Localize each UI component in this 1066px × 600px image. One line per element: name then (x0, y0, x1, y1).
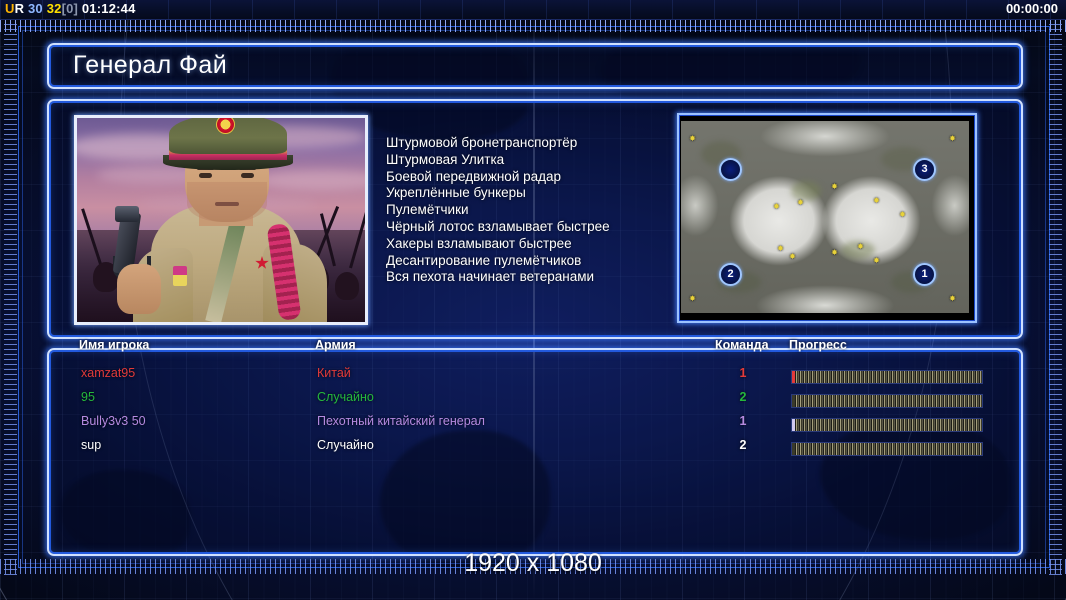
player-roster-panel: xamzat95Китай195Случайно2Bully3v3 50Пехо… (47, 348, 1023, 556)
player-team[interactable]: 2 (729, 438, 757, 452)
top-status-bar: UR 30 32[0] 01:12:44 00:00:00 (0, 0, 1066, 20)
portrait-mouth (215, 202, 239, 206)
column-header-progress: Прогресс (789, 338, 847, 352)
status-prefix-r: R (15, 1, 25, 16)
resolution-overlay: 1920 x 1080 (0, 549, 1066, 578)
pistol-slide (115, 206, 139, 222)
session-timer: 00:00:00 (1006, 1, 1058, 16)
minimap-resource-icon: ✸ (899, 211, 906, 218)
progress-fill (792, 395, 982, 407)
minimap-resource-icon: ✸ (873, 257, 880, 264)
minimap-resource-icon: ✸ (789, 253, 796, 260)
minimap-start-position[interactable]: 3 (913, 158, 936, 181)
ability-item: Десантирование пулемётчиков (386, 253, 706, 270)
progress-tip (792, 443, 795, 455)
portrait-hand (117, 264, 161, 314)
progress-fill (792, 371, 982, 383)
progress-fill (792, 419, 982, 431)
player-army[interactable]: Пехотный китайский генерал (317, 414, 485, 428)
player-progress-bar (791, 418, 983, 432)
column-header-army: Армия (315, 338, 356, 352)
portrait-cap-emblem (216, 115, 235, 134)
minimap-start-position[interactable]: 1 (913, 263, 936, 286)
roster-column-headers: Имя игрока Армия Команда Прогресс (47, 338, 1019, 354)
ability-item: Вся пехота начинает ветеранами (386, 269, 706, 286)
player-progress-bar (791, 370, 983, 384)
player-progress-bar (791, 442, 983, 456)
status-number-1: 30 (28, 1, 43, 16)
progress-fill (792, 443, 982, 455)
table-row[interactable]: xamzat95Китай1 (49, 366, 1021, 390)
player-army[interactable]: Случайно (317, 390, 374, 404)
ability-item: Хакеры взламывают быстрее (386, 236, 706, 253)
status-number-2: 32 (47, 1, 62, 16)
player-name: xamzat95 (81, 366, 135, 380)
minimap-resource-icon: ✸ (857, 243, 864, 250)
table-row[interactable]: Bully3v3 50Пехотный китайский генерал1 (49, 414, 1021, 438)
top-bar-grid (0, 0, 1066, 19)
player-team[interactable]: 1 (729, 414, 757, 428)
column-header-player: Имя игрока (79, 338, 149, 352)
player-army[interactable]: Китай (317, 366, 351, 380)
status-bracket: [0] (62, 1, 79, 16)
status-prefix-u: U (5, 1, 15, 16)
general-abilities-list: Штурмовой бронетранспортёр Штурмовая Ули… (386, 135, 706, 286)
portrait-eye (241, 173, 254, 178)
progress-tip (792, 395, 795, 407)
player-army[interactable]: Случайно (317, 438, 374, 452)
status-clock: 01:12:44 (82, 1, 136, 16)
progress-tip (792, 419, 795, 431)
minimap-canvas[interactable]: ✸✸✸✸✸✸✸✸✸✸✸✸✸✸321 (681, 121, 969, 313)
minimap-resource-icon: ✸ (831, 249, 838, 256)
portrait-eye (199, 173, 212, 178)
crowd-head (335, 272, 359, 300)
general-portrait (74, 115, 368, 325)
minimap-resource-icon: ✸ (949, 295, 956, 302)
ability-item: Пулемётчики (386, 202, 706, 219)
player-team[interactable]: 2 (729, 390, 757, 404)
minimap-start-position[interactable]: 2 (719, 263, 742, 286)
player-name: 95 (81, 390, 95, 404)
game-lobby-screen: UR 30 32[0] 01:12:44 00:00:00 Генерал Фа… (0, 0, 1066, 600)
ability-item: Боевой передвижной радар (386, 169, 706, 186)
player-progress-bar (791, 394, 983, 408)
progress-tip (792, 371, 795, 383)
map-preview[interactable]: ✸✸✸✸✸✸✸✸✸✸✸✸✸✸321 (677, 113, 977, 323)
connection-status: UR 30 32[0] 01:12:44 (5, 1, 136, 16)
minimap-resource-icon: ✸ (831, 183, 838, 190)
minimap-blotch (791, 181, 821, 201)
minimap-resource-icon: ✸ (777, 245, 784, 252)
ability-item: Штурмовой бронетранспортёр (386, 135, 706, 152)
minimap-resource-icon: ✸ (949, 135, 956, 142)
page-title: Генерал Фай (73, 51, 227, 80)
minimap-resource-icon: ✸ (689, 295, 696, 302)
ability-item: Штурмовая Улитка (386, 152, 706, 169)
minimap-resource-icon: ✸ (689, 135, 696, 142)
minimap-start-position[interactable] (719, 158, 742, 181)
player-team[interactable]: 1 (729, 366, 757, 380)
minimap-resource-icon: ✸ (873, 197, 880, 204)
minimap-resource-icon: ✸ (773, 203, 780, 210)
player-name: Bully3v3 50 (81, 414, 146, 428)
player-name: sup (81, 438, 101, 452)
table-row[interactable]: 95Случайно2 (49, 390, 1021, 414)
ability-item: Укреплённые бункеры (386, 185, 706, 202)
portrait-medal (173, 266, 187, 286)
column-header-team: Команда (715, 338, 769, 352)
ability-item: Чёрный лотос взламывает быстрее (386, 219, 706, 236)
general-title-panel: Генерал Фай (47, 43, 1023, 89)
general-info-panel: Штурмовой бронетранспортёр Штурмовая Ули… (47, 99, 1023, 339)
minimap-resource-icon: ✸ (797, 199, 804, 206)
table-row[interactable]: supСлучайно2 (49, 438, 1021, 462)
